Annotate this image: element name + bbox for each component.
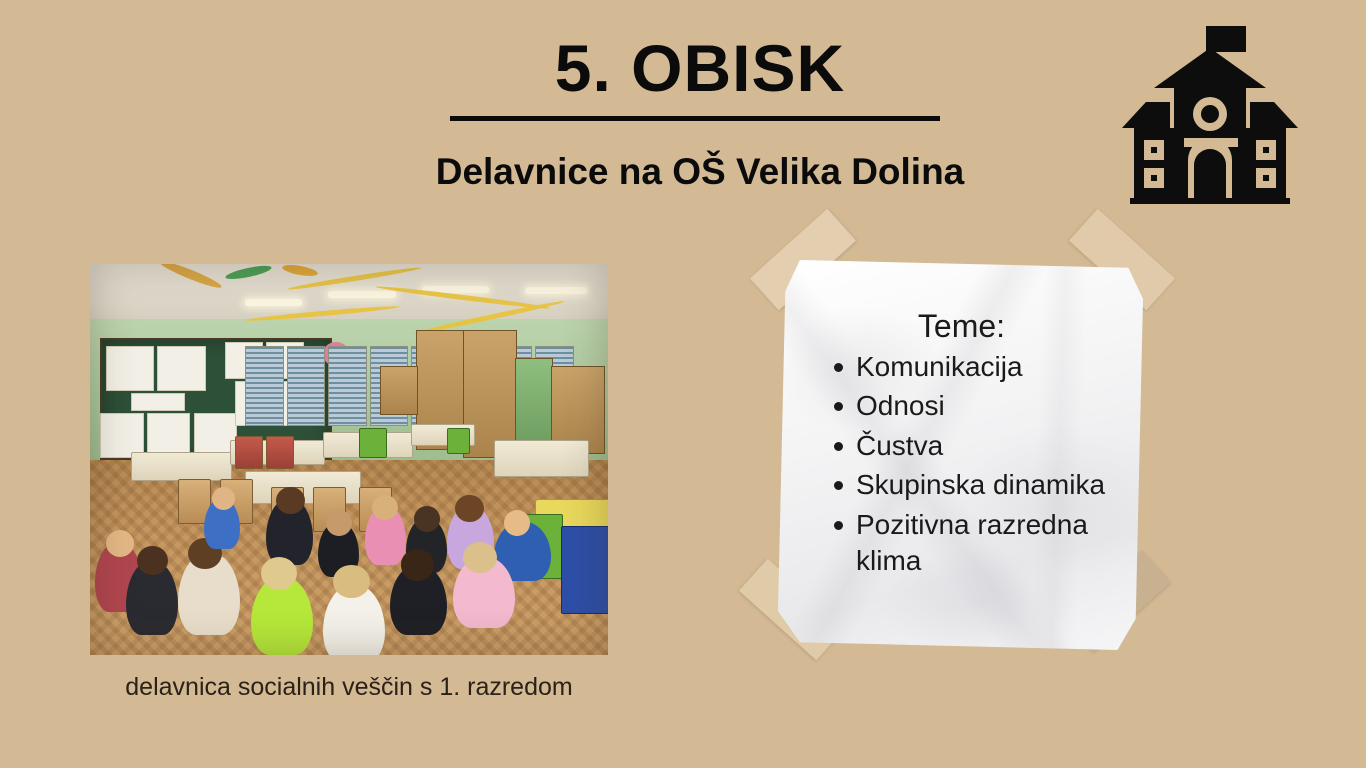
photo-ceiling-light [328,291,395,298]
photo-red-chair [235,436,263,469]
photo-green-chair [447,428,470,453]
slide-canvas: 5. OBISK Delavnice na OŠ Velika Dolina [0,0,1366,768]
photo-child-head [414,506,440,531]
note-content: Teme: Komunikacija Odnosi Čustva Skupins… [778,308,1143,582]
photo-child-head [276,487,304,514]
photo-childrens-drawing [100,413,143,458]
photo-table [494,440,589,477]
photo-child-head [463,542,497,573]
photo-child-head [455,495,483,522]
photo-childrens-drawing [131,393,185,411]
list-item: Pozitivna razredna klima [834,507,1133,580]
list-item: Čustva [834,428,1133,464]
list-item: Komunikacija [834,349,1133,385]
photo-childrens-drawing [157,346,206,391]
page-subtitle: Delavnice na OŠ Velika Dolina [320,151,1080,193]
title-underline-rule [450,116,940,121]
photo-child-head [326,510,352,535]
photo-caption: delavnica socialnih veščin s 1. razredom [108,670,590,706]
photo-blue-chair [561,526,608,614]
school-building-icon [1118,18,1308,214]
classroom-photo-content [90,264,608,655]
list-item: Skupinska dinamika [834,467,1133,503]
photo-childrens-drawing [106,346,155,391]
photo-red-chair [266,436,294,469]
photo-child-head [372,495,398,520]
photo-table [131,452,231,481]
photo-window [328,346,366,426]
photo-child-head [504,510,530,535]
list-item: Odnosi [834,388,1133,424]
photo-child-head [333,565,369,598]
photo-child-head [106,530,134,557]
photo-window [245,346,283,426]
note-paper: Teme: Komunikacija Odnosi Čustva Skupins… [778,260,1143,650]
note-heading: Teme: [796,308,1133,345]
photo-ceiling-light [525,287,587,294]
photo-ceiling-light [245,299,302,306]
page-title: 5. OBISK [350,34,1050,103]
photo-childrens-drawing [147,413,190,458]
photo-window [287,346,325,426]
photo-child-head [137,546,168,575]
themes-note: Teme: Komunikacija Odnosi Čustva Skupins… [735,228,1190,673]
photo-green-chair [359,428,387,457]
photo-shelf [380,366,418,415]
themes-list: Komunikacija Odnosi Čustva Skupinska din… [796,349,1133,579]
photo-green-curtain [515,358,553,446]
photo-child-head [401,549,435,580]
classroom-photo [90,264,608,655]
